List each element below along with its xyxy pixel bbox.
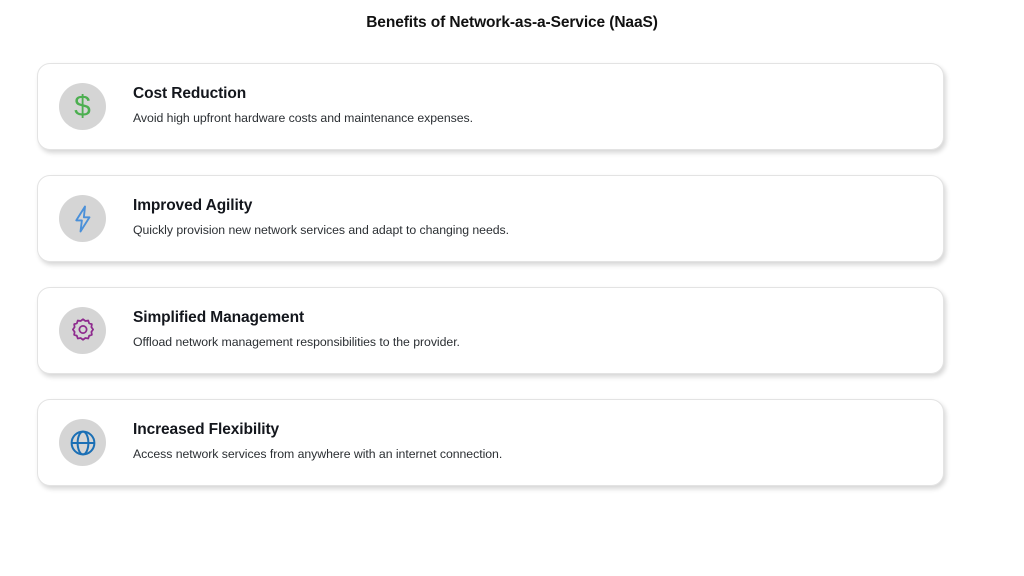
benefit-description: Avoid high upfront hardware costs and ma… [133, 111, 943, 126]
benefit-title: Improved Agility [133, 197, 943, 216]
benefit-card-simplified-management[interactable]: Simplified Management Offload network ma… [37, 287, 944, 374]
lightning-bolt-icon [68, 204, 98, 234]
benefit-card-list: $ Cost Reduction Avoid high upfront hard… [37, 63, 944, 511]
benefit-card-cost-reduction[interactable]: $ Cost Reduction Avoid high upfront hard… [37, 63, 944, 150]
benefit-title: Increased Flexibility [133, 421, 943, 440]
card-text: Cost Reduction Avoid high upfront hardwa… [133, 85, 943, 128]
card-text: Simplified Management Offload network ma… [133, 309, 943, 352]
icon-badge [59, 419, 106, 466]
gear-icon [68, 316, 98, 346]
icon-badge [59, 307, 106, 354]
card-text: Improved Agility Quickly provision new n… [133, 197, 943, 240]
benefit-description: Quickly provision new network services a… [133, 223, 943, 238]
benefits-infographic: Benefits of Network-as-a-Service (NaaS) … [0, 0, 1024, 576]
benefit-description: Access network services from anywhere wi… [133, 447, 943, 462]
dollar-sign-icon: $ [74, 92, 91, 122]
benefit-card-improved-agility[interactable]: Improved Agility Quickly provision new n… [37, 175, 944, 262]
benefit-card-increased-flexibility[interactable]: Increased Flexibility Access network ser… [37, 399, 944, 486]
benefit-title: Simplified Management [133, 309, 943, 328]
benefit-title: Cost Reduction [133, 85, 943, 104]
page-title: Benefits of Network-as-a-Service (NaaS) [0, 14, 1024, 32]
icon-badge: $ [59, 83, 106, 130]
globe-icon [68, 428, 98, 458]
icon-badge [59, 195, 106, 242]
benefit-description: Offload network management responsibilit… [133, 335, 943, 350]
card-text: Increased Flexibility Access network ser… [133, 421, 943, 464]
